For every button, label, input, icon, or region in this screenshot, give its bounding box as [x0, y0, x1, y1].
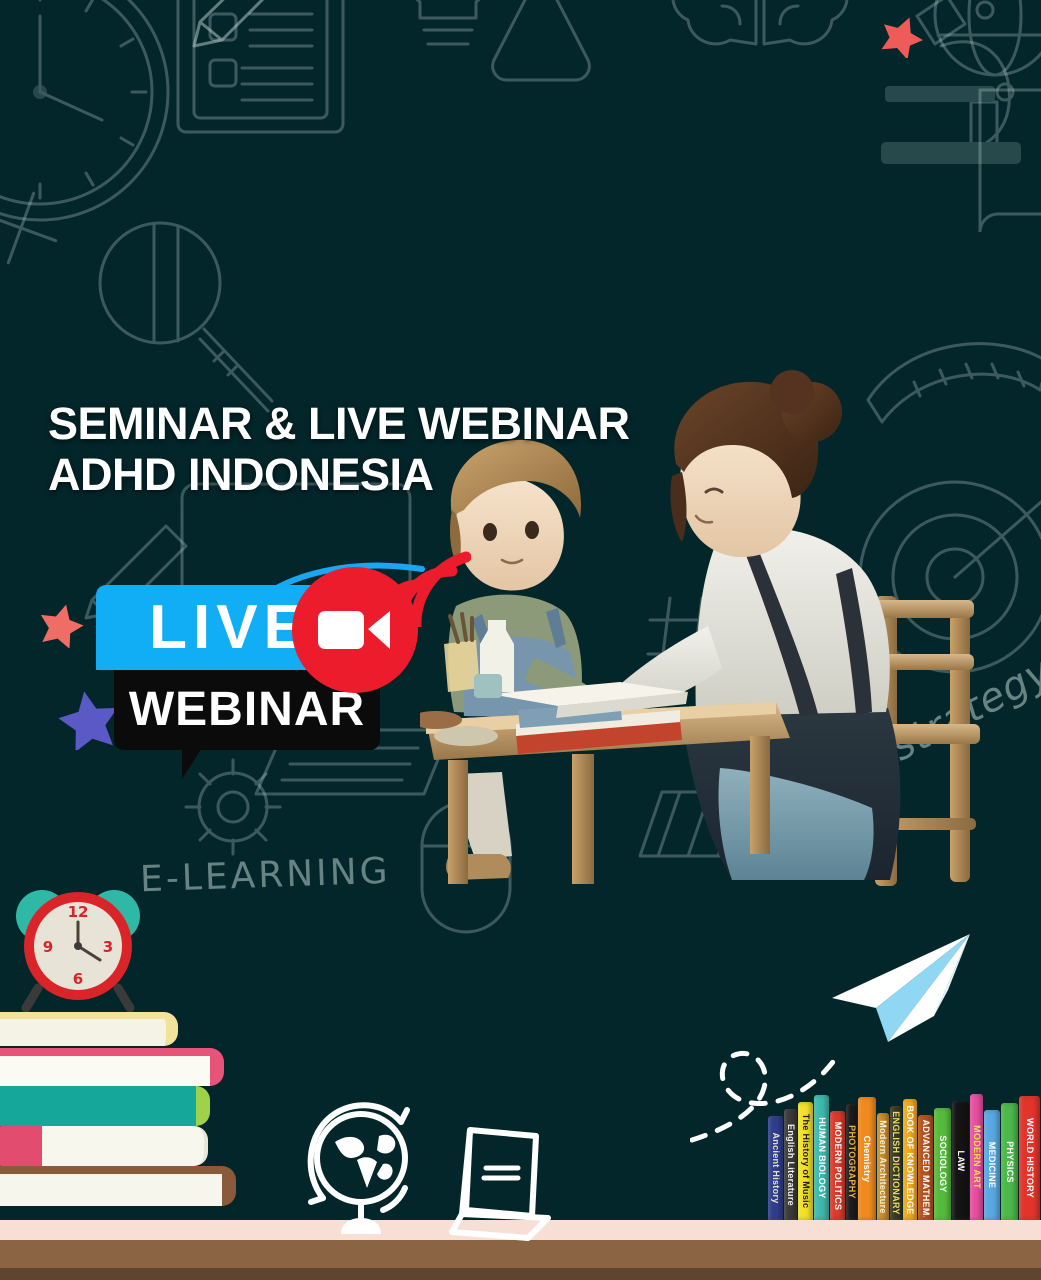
elearning-chalk-text: E-LEARNING: [139, 851, 391, 901]
book-spine-title: MODERN ART: [972, 1125, 982, 1189]
red-star-icon-top: [880, 14, 924, 63]
book-spine-title: SOCIOLOGY: [938, 1135, 948, 1192]
globe-icon: [305, 1102, 423, 1242]
paper-plane-icon: [830, 930, 975, 1045]
book-spine-title: LAW: [956, 1150, 966, 1171]
svg-text:9: 9: [43, 938, 53, 956]
clock-doodle: [0, 0, 190, 242]
book-yellow: [0, 1012, 178, 1046]
shelf-shadow: [0, 1268, 1041, 1280]
book-spine: LAW: [952, 1101, 969, 1220]
svg-text:6: 6: [73, 970, 83, 988]
clipboard-checklist-doodle: [172, 0, 352, 142]
live-label: LIVE: [143, 597, 311, 659]
book-spine-title: MEDICINE: [987, 1142, 997, 1188]
book-spine: PHYSICS: [1001, 1103, 1018, 1220]
open-book-icon: [440, 1120, 560, 1242]
book-pink: [0, 1048, 224, 1086]
book-spine: SOCIOLOGY: [934, 1108, 951, 1220]
book-spine: WORLD HISTORY: [1019, 1096, 1040, 1220]
plus-doodle: [0, 188, 76, 298]
svg-text:3: 3: [103, 938, 113, 956]
webinar-label: WEBINAR: [129, 686, 365, 734]
headline-line-1: SEMINAR & LIVE WEBINAR: [48, 398, 630, 449]
lightbulb-doodle: [378, 0, 518, 68]
book-brown: [0, 1166, 236, 1206]
flask-doodle: [476, 0, 606, 84]
book-doodle: [968, 72, 1041, 232]
svg-text:12: 12: [68, 903, 89, 921]
shelf-body: [0, 1240, 1041, 1270]
book-spine-title: WORLD HISTORY: [1025, 1118, 1035, 1198]
pencil-doodle: [182, 0, 312, 50]
globe-doodle-top: [920, 0, 1041, 90]
video-camera-badge: [292, 567, 418, 693]
book-spine: MODERN ART: [970, 1094, 983, 1220]
live-webinar-badge[interactable]: LIVE WEBINAR: [96, 585, 436, 770]
book-spine: MEDICINE: [984, 1110, 1000, 1220]
book-teal: [0, 1086, 210, 1126]
webinar-poster: E-LEARNING strategy: [0, 0, 1041, 1280]
magnifier-doodle: [82, 205, 302, 425]
speech-bubble-tail: [182, 745, 204, 779]
video-camera-icon: [318, 607, 392, 653]
headline-line-2: ADHD INDONESIA: [48, 449, 630, 500]
coral-star-icon: [38, 602, 84, 653]
book-stack: [0, 992, 250, 1222]
brain-doodle: [660, 0, 860, 100]
book-rose: [0, 1126, 208, 1166]
book-spine-title: PHYSICS: [1005, 1141, 1015, 1183]
page-title: SEMINAR & LIVE WEBINAR ADHD INDONESIA: [48, 398, 630, 501]
